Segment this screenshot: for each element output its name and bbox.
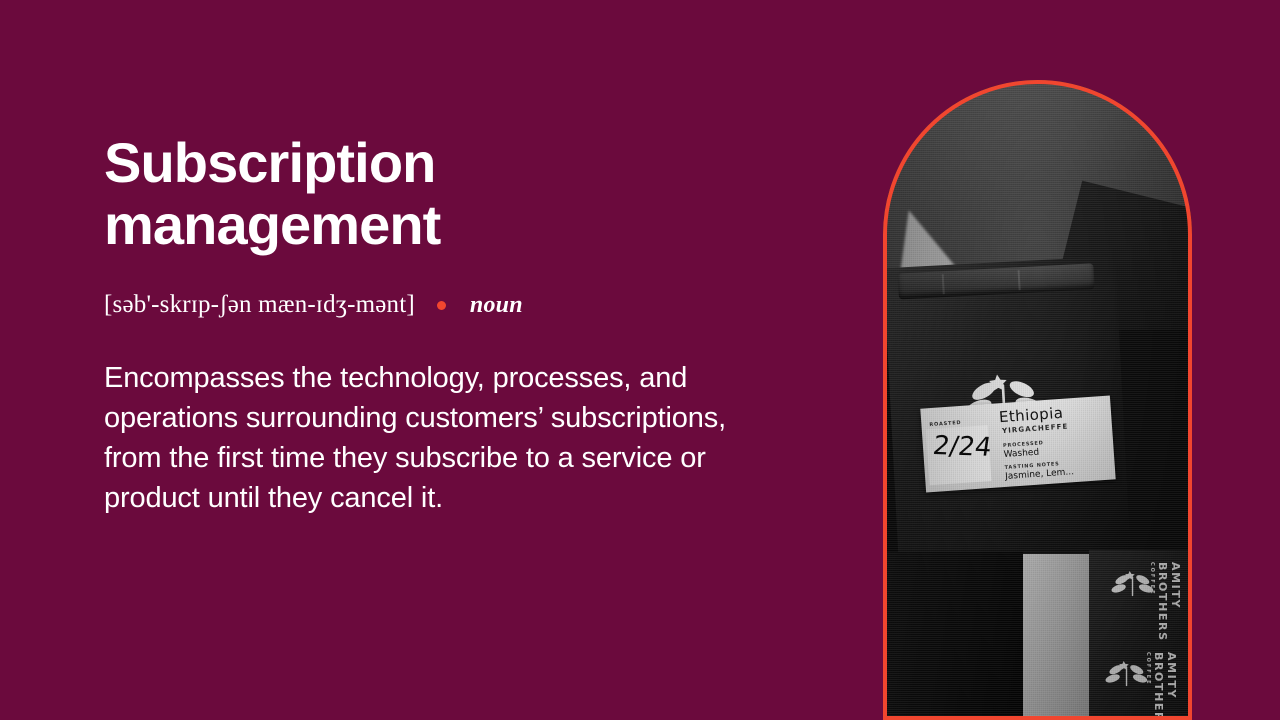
coffee-box-photo: AMITY BROTHERS COFFEE CO Ethiopia YIRGAC…	[883, 80, 1192, 720]
label-roasted-date: 2/24	[931, 431, 994, 463]
label-processed-value: Washed	[1003, 448, 1039, 460]
arch-image-clip: AMITY BROTHERS COFFEE CO Ethiopia YIRGAC…	[883, 80, 1192, 720]
pronunciation-row: [səb'-skrɪp-ʃən mæn-ɪdʒ-mənt] noun	[104, 290, 824, 320]
pronunciation-text: [səb'-skrɪp-ʃən mæn-ɪdʒ-mənt]	[104, 290, 415, 320]
flap-brand-line-2: BROTHERS	[1152, 652, 1165, 720]
flap-brand-line-1: AMITY	[1165, 652, 1177, 720]
slide-root: Subscription management [səb'-skrɪp-ʃən …	[0, 0, 1280, 720]
definition-content: Subscription management [səb'-skrɪp-ʃən …	[104, 132, 824, 518]
coffee-bag-crimp	[898, 263, 1095, 299]
origin-label-card: Ethiopia YIRGACHEFFE PROCESSED Washed TA…	[920, 395, 1115, 492]
arch-image-panel: AMITY BROTHERS COFFEE CO Ethiopia YIRGAC…	[883, 80, 1192, 720]
carton-side-flap: AMITY BROTHERS COFFEE	[1089, 550, 1192, 720]
carton-inner-panel	[1023, 554, 1095, 720]
flap-brand-line-2: BROTHERS	[1156, 562, 1169, 642]
flap-leaf-icon-lower	[1105, 658, 1151, 688]
definition-text: Encompasses the technology, processes, a…	[104, 358, 784, 518]
part-of-speech-label: noun	[470, 292, 523, 319]
carton-front-panel	[883, 552, 1023, 720]
flap-brand-line-1: AMITY	[1169, 562, 1181, 642]
page-title: Subscription management	[104, 132, 574, 256]
flap-leaf-icon-upper	[1111, 568, 1157, 598]
bullet-dot-icon	[437, 301, 446, 310]
